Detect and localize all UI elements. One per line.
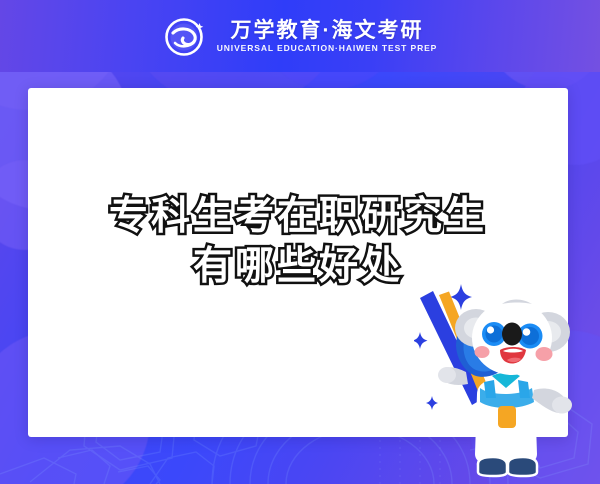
mascot-shoe bbox=[508, 457, 537, 476]
header-content: 万学教育·海文考研 UNIVERSAL EDUCATION·HAIWEN TES… bbox=[0, 0, 600, 72]
headline-line-2: 有哪些好处 bbox=[28, 242, 568, 292]
content-card: 专科生考在职研究生 有哪些好处 bbox=[28, 88, 568, 437]
header-band: 万学教育·海文考研 UNIVERSAL EDUCATION·HAIWEN TES… bbox=[0, 0, 600, 72]
mascot-shoe bbox=[478, 457, 507, 476]
poster-canvas: 万学教育·海文考研 UNIVERSAL EDUCATION·HAIWEN TES… bbox=[0, 0, 600, 484]
headline-line-1: 专科生考在职研究生 bbox=[28, 192, 568, 242]
brand-name-cn: 万学教育·海文考研 bbox=[230, 20, 423, 41]
brand-text-block: 万学教育·海文考研 UNIVERSAL EDUCATION·HAIWEN TES… bbox=[217, 20, 438, 53]
brand-name-en: UNIVERSAL EDUCATION·HAIWEN TEST PREP bbox=[217, 44, 438, 53]
page-title: 专科生考在职研究生 有哪些好处 bbox=[28, 192, 568, 292]
swirl-circle-logo-icon bbox=[163, 14, 207, 58]
